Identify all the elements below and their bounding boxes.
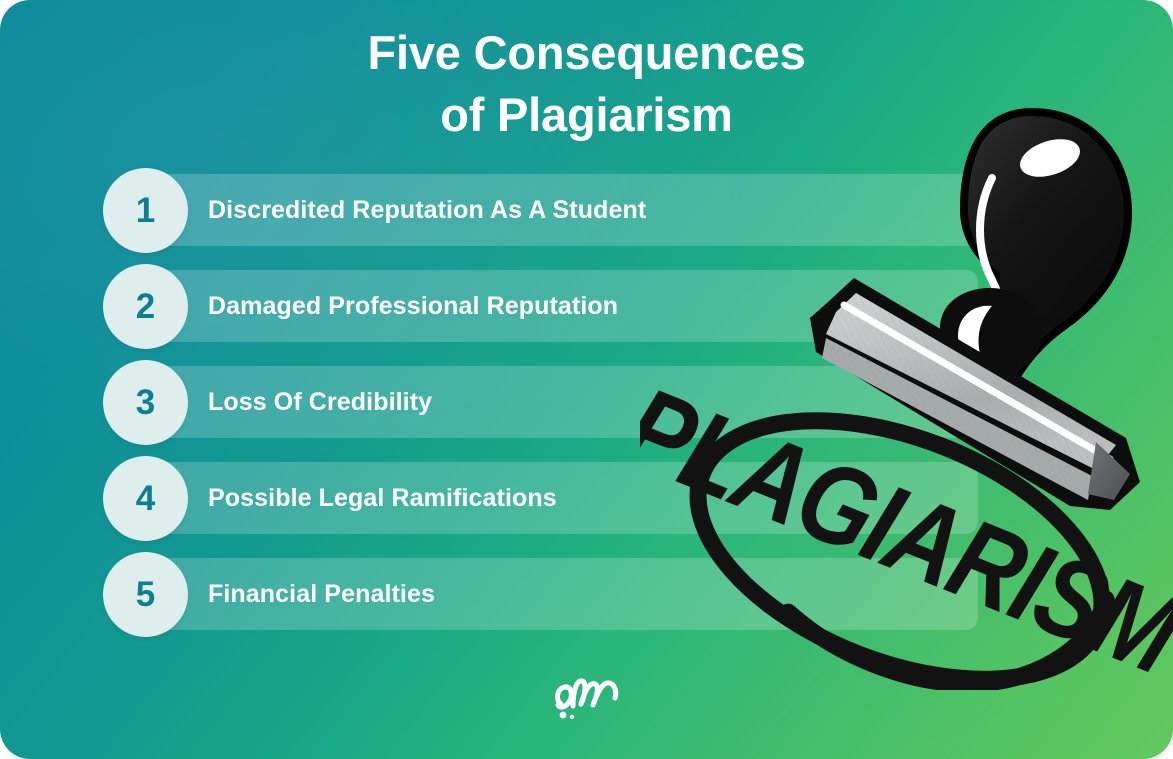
list-item-label: Loss Of Credibility bbox=[208, 360, 432, 445]
list-item-number: 3 bbox=[136, 385, 155, 420]
list-item-number-badge: 5 bbox=[103, 552, 188, 637]
list-item-label: Financial Penalties bbox=[208, 552, 435, 637]
list-item[interactable]: 5 Financial Penalties bbox=[103, 552, 978, 637]
list-item-number-badge: 4 bbox=[103, 456, 188, 541]
infographic-card: Five Consequences of Plagiarism 1 Discre… bbox=[0, 0, 1173, 759]
list-item[interactable]: 4 Possible Legal Ramifications bbox=[103, 456, 978, 541]
list-item[interactable]: 2 Damaged Professional Reputation bbox=[103, 264, 978, 349]
consequences-list: 1 Discredited Reputation As A Student 2 … bbox=[0, 168, 1173, 638]
list-item-number-badge: 1 bbox=[103, 168, 188, 253]
list-item-number: 4 bbox=[136, 481, 155, 516]
list-item-label: Damaged Professional Reputation bbox=[208, 264, 618, 349]
scribble-logo[interactable] bbox=[543, 660, 633, 725]
list-item-number: 5 bbox=[136, 577, 155, 612]
page-title-line-1: Five Consequences bbox=[0, 22, 1173, 84]
page-title: Five Consequences of Plagiarism bbox=[0, 22, 1173, 146]
list-item[interactable]: 1 Discredited Reputation As A Student bbox=[103, 168, 978, 253]
list-item[interactable]: 3 Loss Of Credibility bbox=[103, 360, 978, 445]
list-item-number: 1 bbox=[136, 193, 155, 228]
list-item-number-badge: 2 bbox=[103, 264, 188, 349]
list-item-label: Discredited Reputation As A Student bbox=[208, 168, 646, 253]
list-item-number-badge: 3 bbox=[103, 360, 188, 445]
list-item-label: Possible Legal Ramifications bbox=[208, 456, 557, 541]
list-item-number: 2 bbox=[136, 289, 155, 324]
page-title-line-2: of Plagiarism bbox=[0, 84, 1173, 146]
